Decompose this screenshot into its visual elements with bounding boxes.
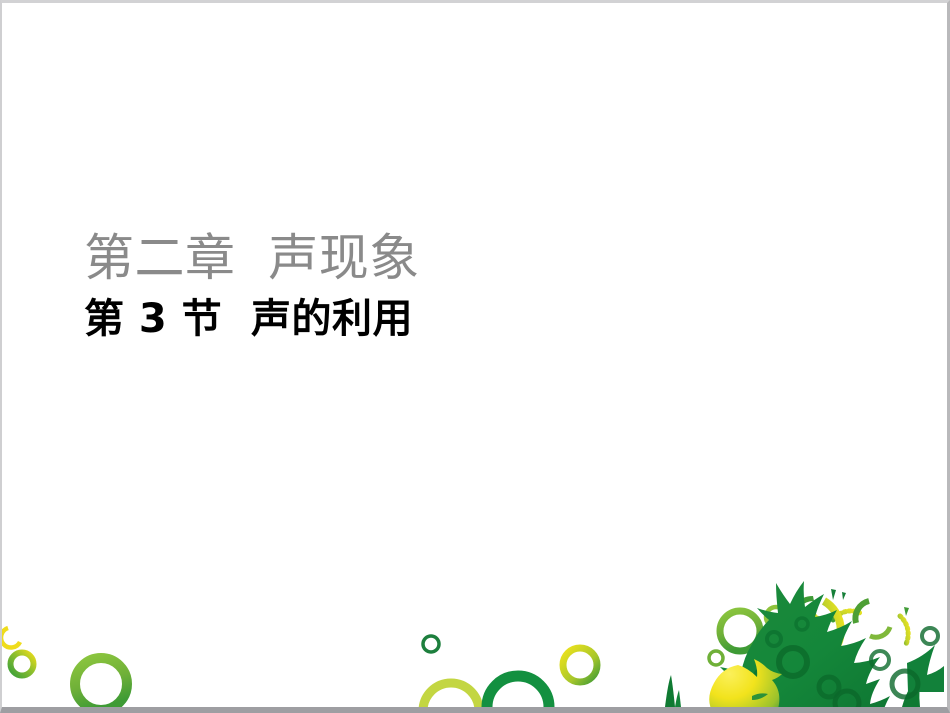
section-title: 第 3 节 声的利用 — [84, 295, 784, 343]
leaf-inner-ring-9 — [755, 670, 765, 680]
leaf-inner-ring-6 — [767, 632, 781, 646]
leaf-lobe-far-right — [907, 645, 944, 692]
ring-accent-mid-green — [487, 676, 549, 707]
leaf-inner-ring-4 — [871, 651, 889, 669]
grass-tuft-left — [665, 675, 675, 707]
beaded-arc-over-leaf-inner — [814, 615, 826, 657]
title-block: 第二章 声现象 第 3 节 声的利用 — [84, 229, 784, 343]
chapter-title: 第二章 声现象 — [84, 229, 784, 287]
leaf-tip-tick-right — [842, 592, 846, 600]
leaf-inner-ring-7 — [796, 618, 808, 630]
beaded-arc-right-upper — [833, 611, 862, 620]
arc-over-leaf — [824, 601, 841, 659]
leaf-inner-ring-8 — [922, 628, 938, 644]
ring-accent-mid-lime — [423, 683, 479, 707]
crescent-arc-accent — [2, 628, 20, 648]
bubble-ring-small — [768, 636, 788, 656]
grass-tuft-right — [675, 690, 681, 707]
ring-accent-mid-yellow — [563, 648, 597, 682]
ring-accent-tiny-mid — [423, 636, 439, 652]
leaf-tip-tick-far — [904, 607, 909, 616]
presentation-slide: 第二章 声现象 第 3 节 声的利用 — [0, 0, 950, 713]
bubble-ring-tiny — [709, 651, 723, 665]
leaf-lobe-right — [902, 673, 922, 707]
decorative-foliage-graphic — [2, 3, 947, 707]
arc-right-inner — [855, 601, 869, 623]
leaf-inner-ring-3 — [835, 691, 859, 707]
bubble-ring-medium — [766, 607, 786, 627]
arc-sliver-left — [795, 596, 814, 607]
beaded-arc-right-outer — [900, 616, 908, 646]
leaf-tip-tick-left — [831, 589, 836, 600]
maple-leaf-silhouette — [720, 581, 898, 707]
ring-accent-large-left — [75, 658, 127, 707]
ring-accent-small-left — [11, 653, 34, 676]
leaf-inner-ring-1 — [779, 648, 807, 676]
blob-notch — [752, 693, 768, 700]
bubble-ring-large — [720, 611, 760, 651]
leaf-inner-ring-5 — [892, 671, 918, 697]
leaf-inner-ring-2 — [819, 677, 839, 697]
arc-right-lower — [870, 627, 890, 637]
yellow-green-blob — [709, 659, 782, 707]
